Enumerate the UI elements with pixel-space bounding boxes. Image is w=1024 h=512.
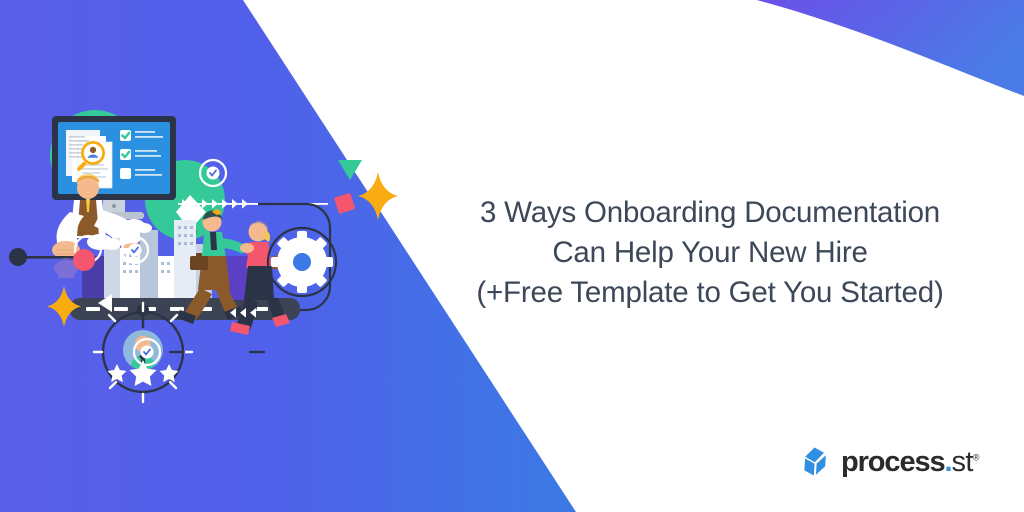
handshake-hands bbox=[240, 243, 254, 253]
process-st-wordmark: process.st® bbox=[841, 448, 980, 477]
page-title: 3 Ways Onboarding Documentation Can Help… bbox=[430, 193, 990, 313]
decor-red-dot bbox=[73, 249, 95, 271]
banner-canvas: 3 Ways Onboarding Documentation Can Help… bbox=[0, 0, 1024, 512]
decor-pink-square bbox=[334, 193, 355, 214]
process-st-mark-icon bbox=[800, 446, 830, 477]
illustration-svg bbox=[0, 60, 420, 490]
headline-line-3: (+Free Template to Get You Started) bbox=[430, 273, 990, 313]
process-st-logo[interactable]: process.st® bbox=[800, 446, 980, 477]
decor-orange-star-1 bbox=[358, 172, 398, 220]
headline-line-1: 3 Ways Onboarding Documentation bbox=[430, 193, 990, 233]
logo-brand: process bbox=[841, 446, 945, 478]
decor-green-triangle bbox=[338, 160, 362, 180]
illustration bbox=[0, 60, 420, 490]
logo-suffix: st bbox=[952, 446, 973, 478]
gear-icon bbox=[268, 228, 336, 296]
headline-line-2: Can Help Your New Hire bbox=[430, 233, 990, 273]
decor-orange-star-2 bbox=[47, 286, 81, 327]
logo-registered-mark: ® bbox=[973, 452, 980, 462]
logo-dot: . bbox=[945, 446, 952, 478]
